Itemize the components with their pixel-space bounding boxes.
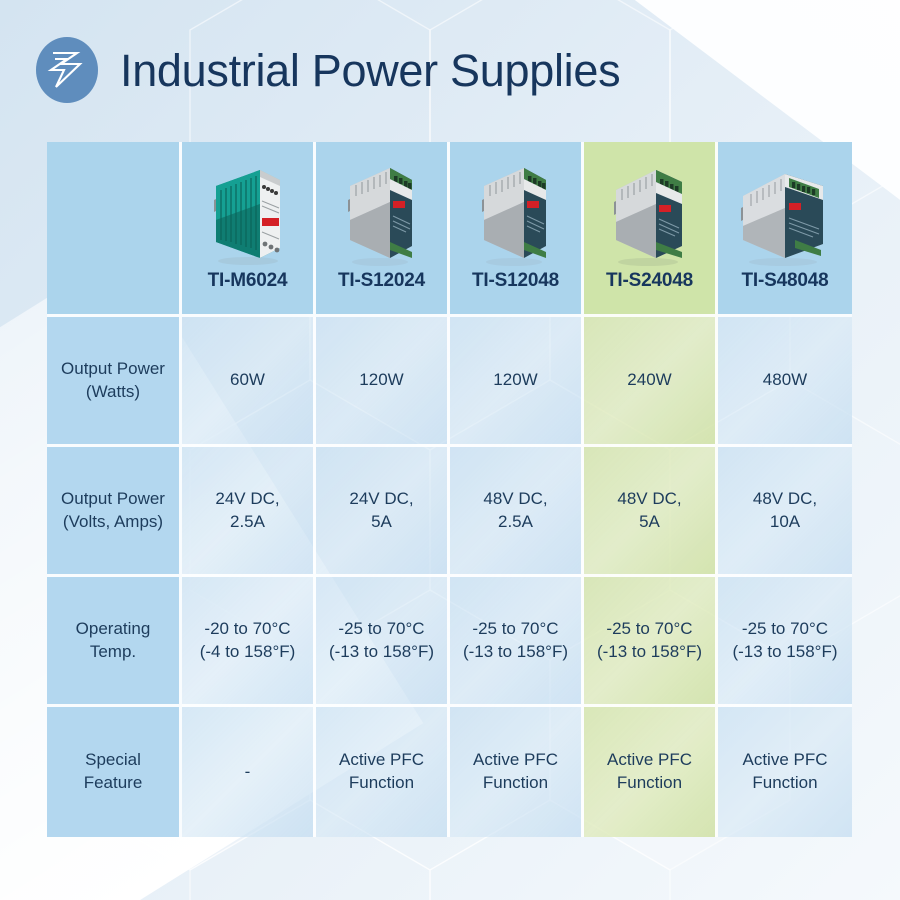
- page-header: Industrial Power Supplies: [0, 0, 900, 140]
- table-row: Special Feature - Active PFC Function Ac…: [47, 707, 852, 837]
- row-label-output-power-volts-amps: Output Power (Volts, Amps): [47, 447, 182, 577]
- product-name: TI-M6024: [182, 270, 313, 304]
- cell-feature-ti-s24048: Active PFC Function: [584, 707, 718, 837]
- cell-line2: Function: [718, 772, 852, 795]
- cell-line1: Active PFC: [584, 749, 715, 772]
- cell-temp-ti-m6024: -20 to 70°C (-4 to 158°F): [182, 577, 316, 707]
- cell-line2: 5A: [584, 511, 715, 534]
- cell-volts-ti-m6024: 24V DC, 2.5A: [182, 447, 316, 577]
- cell-feature-ti-s12048: Active PFC Function: [450, 707, 584, 837]
- row-label-line2: (Volts, Amps): [47, 511, 179, 534]
- cell-line2: (-13 to 158°F): [316, 641, 447, 664]
- cell-line1: Active PFC: [450, 749, 581, 772]
- row-label-line1: Operating: [47, 618, 179, 641]
- cell-line1: -25 to 70°C: [584, 618, 715, 641]
- cell-volts-ti-s48048: 48V DC, 10A: [718, 447, 852, 577]
- product-header-ti-s24048[interactable]: TI-S24048: [584, 142, 718, 317]
- product-image-ti-s24048: [584, 152, 715, 270]
- cell-line1: 120W: [450, 369, 581, 392]
- product-image-ti-m6024: [182, 152, 313, 270]
- product-header-ti-s48048[interactable]: TI-S48048: [718, 142, 852, 317]
- table-corner-cell: [47, 142, 182, 317]
- product-image-ti-s12024: [316, 152, 447, 270]
- cell-feature-ti-s48048: Active PFC Function: [718, 707, 852, 837]
- product-image-ti-s12048: [450, 152, 581, 270]
- cell-volts-ti-s12024: 24V DC, 5A: [316, 447, 450, 577]
- product-name: TI-S12048: [450, 270, 581, 304]
- cell-line1: -20 to 70°C: [182, 618, 313, 641]
- cell-temp-ti-s48048: -25 to 70°C (-13 to 158°F): [718, 577, 852, 707]
- table-row: Operating Temp. -20 to 70°C (-4 to 158°F…: [47, 577, 852, 707]
- cell-temp-ti-s12048: -25 to 70°C (-13 to 158°F): [450, 577, 584, 707]
- brand-logo: [36, 37, 98, 103]
- table-header-row: TI-M6024: [47, 142, 852, 317]
- row-label-output-power-watts: Output Power (Watts): [47, 317, 182, 447]
- cell-line1: -25 to 70°C: [316, 618, 447, 641]
- cell-line1: 48V DC,: [450, 488, 581, 511]
- cell-line1: Active PFC: [316, 749, 447, 772]
- cell-watts-ti-s48048: 480W: [718, 317, 852, 447]
- cell-line1: 48V DC,: [718, 488, 852, 511]
- cell-line1: -25 to 70°C: [718, 618, 852, 641]
- cell-line2: (-13 to 158°F): [450, 641, 581, 664]
- cell-line2: 2.5A: [182, 511, 313, 534]
- cell-line1: 120W: [316, 369, 447, 392]
- cell-line2: 2.5A: [450, 511, 581, 534]
- product-name: TI-S48048: [718, 270, 852, 304]
- row-label-operating-temp: Operating Temp.: [47, 577, 182, 707]
- cell-line1: 480W: [718, 369, 852, 392]
- cell-line1: -: [182, 761, 313, 784]
- lightning-bolt-icon: [47, 47, 87, 93]
- cell-watts-ti-s12048: 120W: [450, 317, 584, 447]
- cell-watts-ti-s24048: 240W: [584, 317, 718, 447]
- cell-line1: 24V DC,: [316, 488, 447, 511]
- cell-temp-ti-s12024: -25 to 70°C (-13 to 158°F): [316, 577, 450, 707]
- row-label-line1: Output Power: [47, 488, 179, 511]
- product-name: TI-S12024: [316, 270, 447, 304]
- product-header-ti-s12024[interactable]: TI-S12024: [316, 142, 450, 317]
- cell-line1: 48V DC,: [584, 488, 715, 511]
- product-comparison-page: Industrial Power Supplies: [0, 0, 900, 900]
- cell-line2: 5A: [316, 511, 447, 534]
- cell-line2: 10A: [718, 511, 852, 534]
- cell-line1: -25 to 70°C: [450, 618, 581, 641]
- product-header-ti-s12048[interactable]: TI-S12048: [450, 142, 584, 317]
- table-row: Output Power (Watts) 60W 120W 120W 240W …: [47, 317, 852, 447]
- cell-line2: (-13 to 158°F): [584, 641, 715, 664]
- cell-feature-ti-m6024: -: [182, 707, 316, 837]
- cell-line1: 60W: [182, 369, 313, 392]
- cell-line2: Function: [316, 772, 447, 795]
- row-label-special-feature: Special Feature: [47, 707, 182, 837]
- cell-temp-ti-s24048: -25 to 70°C (-13 to 158°F): [584, 577, 718, 707]
- page-title: Industrial Power Supplies: [120, 48, 620, 93]
- cell-line1: Active PFC: [718, 749, 852, 772]
- cell-line2: Function: [584, 772, 715, 795]
- row-label-line2: Temp.: [47, 641, 179, 664]
- cell-watts-ti-m6024: 60W: [182, 317, 316, 447]
- cell-line1: 24V DC,: [182, 488, 313, 511]
- table-row: Output Power (Volts, Amps) 24V DC, 2.5A …: [47, 447, 852, 577]
- cell-line2: Function: [450, 772, 581, 795]
- product-image-ti-s48048: [718, 152, 852, 270]
- cell-watts-ti-s12024: 120W: [316, 317, 450, 447]
- cell-line1: 240W: [584, 369, 715, 392]
- row-label-line2: Feature: [47, 772, 179, 795]
- row-label-line2: (Watts): [47, 381, 179, 404]
- row-label-line1: Special: [47, 749, 179, 772]
- cell-volts-ti-s12048: 48V DC, 2.5A: [450, 447, 584, 577]
- cell-volts-ti-s24048: 48V DC, 5A: [584, 447, 718, 577]
- cell-feature-ti-s12024: Active PFC Function: [316, 707, 450, 837]
- cell-line2: (-13 to 158°F): [718, 641, 852, 664]
- product-comparison-table: TI-M6024: [47, 142, 852, 837]
- product-name: TI-S24048: [584, 270, 715, 304]
- row-label-line1: Output Power: [47, 358, 179, 381]
- cell-line2: (-4 to 158°F): [182, 641, 313, 664]
- product-header-ti-m6024[interactable]: TI-M6024: [182, 142, 316, 317]
